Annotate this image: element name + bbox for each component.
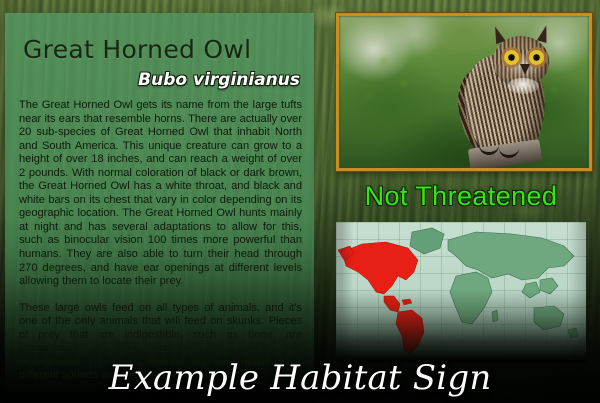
owl-eye-right bbox=[529, 50, 544, 65]
owl-photo bbox=[339, 16, 589, 168]
map-bottom-fade bbox=[336, 222, 586, 362]
habitat-sign: Great Horned Owl Bubo virginianus The Gr… bbox=[0, 0, 600, 403]
owl-beak bbox=[520, 64, 530, 75]
species-common-name: Great Horned Owl bbox=[23, 35, 251, 64]
species-scientific-name: Bubo virginianus bbox=[138, 70, 300, 90]
owl-photo-frame bbox=[336, 13, 592, 171]
owl-eye-left bbox=[504, 50, 519, 65]
information-panel: Great Horned Owl Bubo virginianus The Gr… bbox=[5, 13, 314, 392]
description-paragraph-1: The Great Horned Owl gets its name from … bbox=[19, 99, 302, 289]
sign-caption: Example Habitat Sign bbox=[0, 358, 600, 398]
conservation-status-label: Not Threatened bbox=[336, 181, 586, 212]
owl-illustration bbox=[451, 28, 567, 166]
species-description: The Great Horned Owl gets its name from … bbox=[19, 99, 302, 396]
owl-throat-patch bbox=[507, 78, 539, 94]
habitat-range-map bbox=[336, 222, 586, 362]
information-panel-content: Great Horned Owl Bubo virginianus The Gr… bbox=[5, 13, 314, 392]
